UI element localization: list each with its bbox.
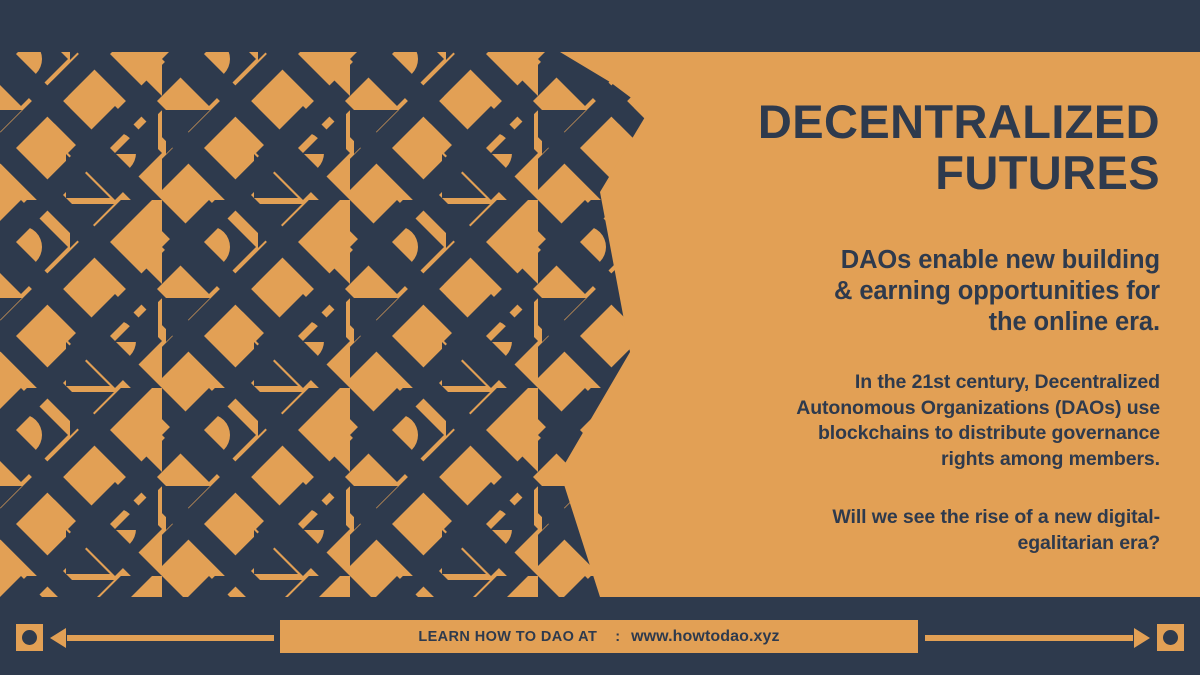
footer-separator: : — [597, 629, 631, 645]
top-dark-band — [0, 0, 1200, 52]
poster-canvas: DECENTRALIZED FUTURES DAOs enable new bu… — [0, 0, 1200, 675]
footer-bar: LEARN HOW TO DAO AT : www.howtodao.xyz — [0, 620, 1200, 654]
footer-rule-right — [925, 635, 1133, 641]
poster-body-paragraph-2: Will we see the rise of a new digital- e… — [740, 505, 1160, 556]
footer-cta-label: LEARN HOW TO DAO AT — [418, 629, 597, 645]
bottom-dark-band: LEARN HOW TO DAO AT : www.howtodao.xyz — [0, 597, 1200, 675]
poster-text-column: DECENTRALIZED FUTURES DAOs enable new bu… — [740, 97, 1160, 556]
page-title: DECENTRALIZED FUTURES — [740, 97, 1160, 199]
decorative-pattern-region — [0, 52, 700, 597]
footer-cta-pill[interactable]: LEARN HOW TO DAO AT : www.howtodao.xyz — [280, 620, 918, 653]
poster-body-paragraph-1: In the 21st century, Decentralized Auton… — [740, 370, 1160, 473]
arrow-right-icon — [1134, 628, 1150, 648]
square-dot-icon-left — [16, 624, 43, 651]
footer-rule-left — [67, 635, 274, 641]
poster-subhead: DAOs enable new building & earning oppor… — [740, 245, 1160, 338]
arrow-left-icon — [50, 628, 66, 648]
diagonal-lattice-pattern-icon — [0, 52, 700, 597]
footer-url-link[interactable]: www.howtodao.xyz — [631, 628, 780, 646]
square-dot-icon-right — [1157, 624, 1184, 651]
main-orange-panel: DECENTRALIZED FUTURES DAOs enable new bu… — [0, 52, 1200, 597]
